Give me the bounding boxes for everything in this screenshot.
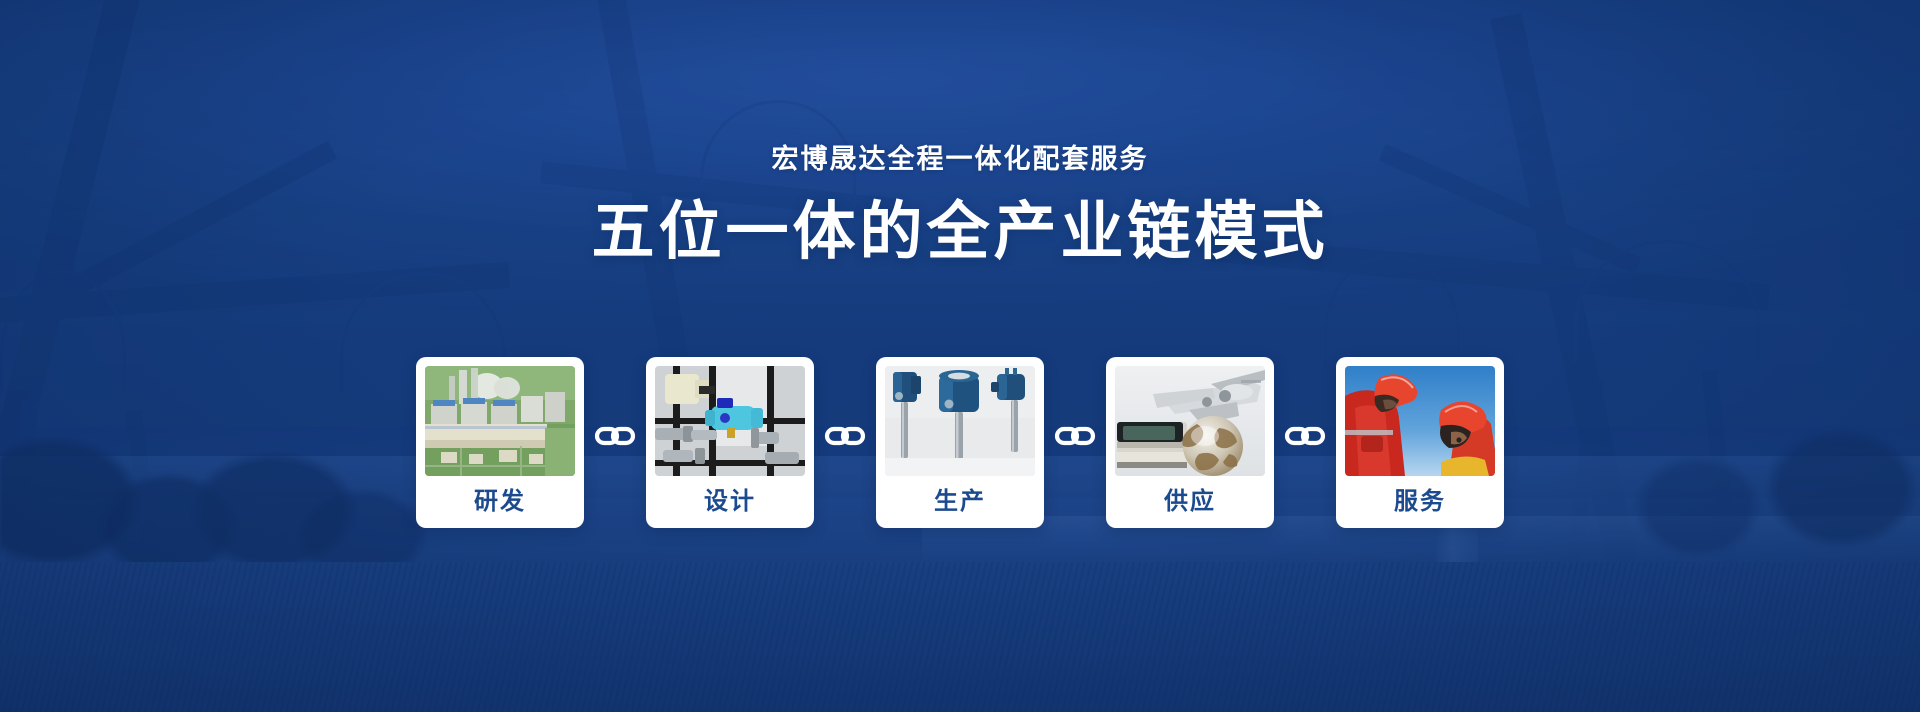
banner-subtitle: 宏博晟达全程一体化配套服务 — [772, 146, 1149, 173]
value-chain-row: 研发 — [416, 357, 1504, 528]
chain-card-label: 研发 — [425, 476, 575, 528]
airplane-truck-globe-logistics-image — [1115, 366, 1265, 476]
chain-card-design[interactable]: 设计 — [646, 357, 814, 528]
hero-banner: 宏博晟达全程一体化配套服务 五位一体的全产业链模式 — [0, 0, 1920, 712]
industrial-plant-aerial-image — [425, 366, 575, 476]
chain-link-icon — [1274, 423, 1336, 449]
chain-card-label: 设计 — [655, 476, 805, 528]
chain-card-supply[interactable]: 供应 — [1106, 357, 1274, 528]
chain-card-label: 服务 — [1345, 476, 1495, 528]
chain-card-label: 生产 — [885, 476, 1035, 528]
chain-card-production[interactable]: 生产 — [876, 357, 1044, 528]
chain-link-icon — [584, 423, 646, 449]
banner-title: 五位一体的全产业链模式 — [592, 199, 1329, 265]
chain-card-research[interactable]: 研发 — [416, 357, 584, 528]
chain-card-label: 供应 — [1115, 476, 1265, 528]
cad-pump-piping-render-image — [655, 366, 805, 476]
level-sensor-instruments-image — [885, 366, 1035, 476]
banner-content: 宏博晟达全程一体化配套服务 五位一体的全产业链模式 — [0, 0, 1920, 712]
chain-link-icon — [1044, 423, 1106, 449]
chain-link-icon — [814, 423, 876, 449]
chain-card-service[interactable]: 服务 — [1336, 357, 1504, 528]
field-workers-red-helmets-image — [1345, 366, 1495, 476]
